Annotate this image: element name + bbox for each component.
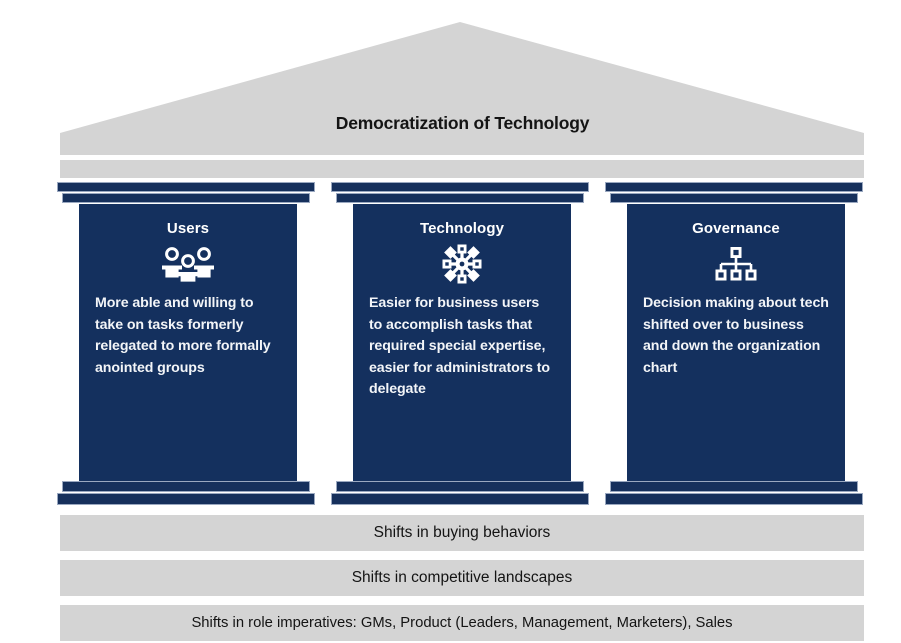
- foundation-label: Shifts in role imperatives: GMs, Product…: [191, 615, 732, 631]
- pediment: Democratization of Technology: [0, 0, 901, 160]
- column-capital-top: [605, 182, 863, 192]
- column-base-bottom: [605, 493, 863, 505]
- column-base-upper: [336, 481, 584, 492]
- column-base-upper: [610, 481, 858, 492]
- column-title-users: Users: [95, 220, 281, 237]
- column-base-bottom: [331, 493, 589, 505]
- column-capital-top: [57, 182, 315, 192]
- network-hub-icon: [369, 243, 555, 285]
- column-body-technology: Easier for business users to accomplish …: [369, 293, 555, 401]
- column-base-bottom: [57, 493, 315, 505]
- column-capital-top: [331, 182, 589, 192]
- foundation-label: Shifts in competitive landscapes: [352, 569, 573, 587]
- column-shaft: Technology: [353, 204, 571, 481]
- column-shaft: Users More able and willing to take: [79, 204, 297, 481]
- architrave-band: [60, 160, 864, 178]
- column-governance[interactable]: Governance: [605, 182, 867, 509]
- column-base-upper: [62, 481, 310, 492]
- column-capital-lower: [610, 193, 858, 203]
- democratization-temple-diagram: Democratization of Technology Users: [0, 0, 901, 643]
- column-body-users: More able and willing to take on tasks f…: [95, 293, 281, 379]
- column-technology[interactable]: Technology: [331, 182, 593, 509]
- pediment-shape-icon: [0, 0, 901, 160]
- column-title-technology: Technology: [369, 220, 555, 237]
- foundation-label: Shifts in buying behaviors: [374, 524, 551, 542]
- column-title-governance: Governance: [643, 220, 829, 237]
- columns-group: Users More able and willing to take: [0, 182, 901, 512]
- three-people-icon: [95, 243, 281, 285]
- column-capital-lower: [62, 193, 310, 203]
- column-capital-lower: [336, 193, 584, 203]
- org-chart-icon: [643, 243, 829, 285]
- foundation-bar-role-imperatives[interactable]: Shifts in role imperatives: GMs, Product…: [60, 605, 864, 641]
- page-title: Democratization of Technology: [60, 113, 865, 134]
- column-body-governance: Decision making about tech shifted over …: [643, 293, 829, 379]
- column-shaft: Governance: [627, 204, 845, 481]
- foundation-bar-competitive-landscapes[interactable]: Shifts in competitive landscapes: [60, 560, 864, 596]
- foundation-bar-buying-behaviors[interactable]: Shifts in buying behaviors: [60, 515, 864, 551]
- column-users[interactable]: Users More able and willing to take: [57, 182, 319, 509]
